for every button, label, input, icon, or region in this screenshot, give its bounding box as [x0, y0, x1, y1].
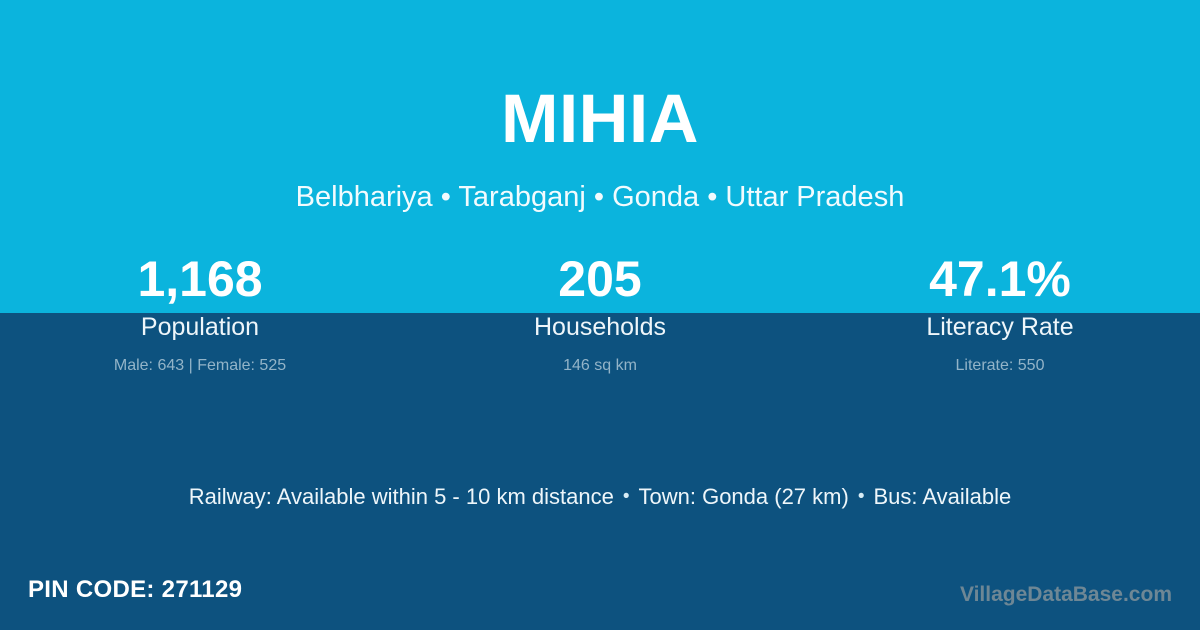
breadcrumb: Belbhariya • Tarabganj • Gonda • Uttar P… — [0, 180, 1200, 215]
transport-railway: Railway: Available within 5 - 10 km dist… — [189, 484, 614, 509]
stat-label: Households — [400, 310, 800, 344]
stat-sublabel: Literate: 550 — [800, 344, 1200, 378]
stat-value: 47.1% — [800, 248, 1200, 310]
stat-value: 1,168 — [0, 248, 400, 310]
transport-town: Town: Gonda (27 km) — [639, 484, 849, 509]
stat-value: 205 — [400, 248, 800, 310]
stat-label: Literacy Rate — [800, 310, 1200, 344]
transport-separator: • — [849, 486, 874, 507]
stat-literacy-rate: 47.1% Literacy Rate Literate: 550 — [800, 248, 1200, 378]
transport-info: Railway: Available within 5 - 10 km dist… — [0, 484, 1200, 510]
page-title: MIHIA — [0, 84, 1200, 153]
village-info-card: MIHIA Belbhariya • Tarabganj • Gonda • U… — [0, 0, 1200, 630]
stat-sublabel: Male: 643 | Female: 525 — [0, 344, 400, 378]
transport-bus: Bus: Available — [873, 484, 1011, 509]
brand-watermark: VillageDataBase.com — [960, 583, 1172, 607]
stat-label: Population — [0, 310, 400, 344]
stat-sublabel: 146 sq km — [400, 344, 800, 378]
transport-separator: • — [614, 486, 639, 507]
stat-households: 205 Households 146 sq km — [400, 248, 800, 378]
stats-row: 1,168 Population Male: 643 | Female: 525… — [0, 248, 1200, 378]
stat-population: 1,168 Population Male: 643 | Female: 525 — [0, 248, 400, 378]
pin-code: PIN CODE: 271129 — [28, 576, 242, 604]
